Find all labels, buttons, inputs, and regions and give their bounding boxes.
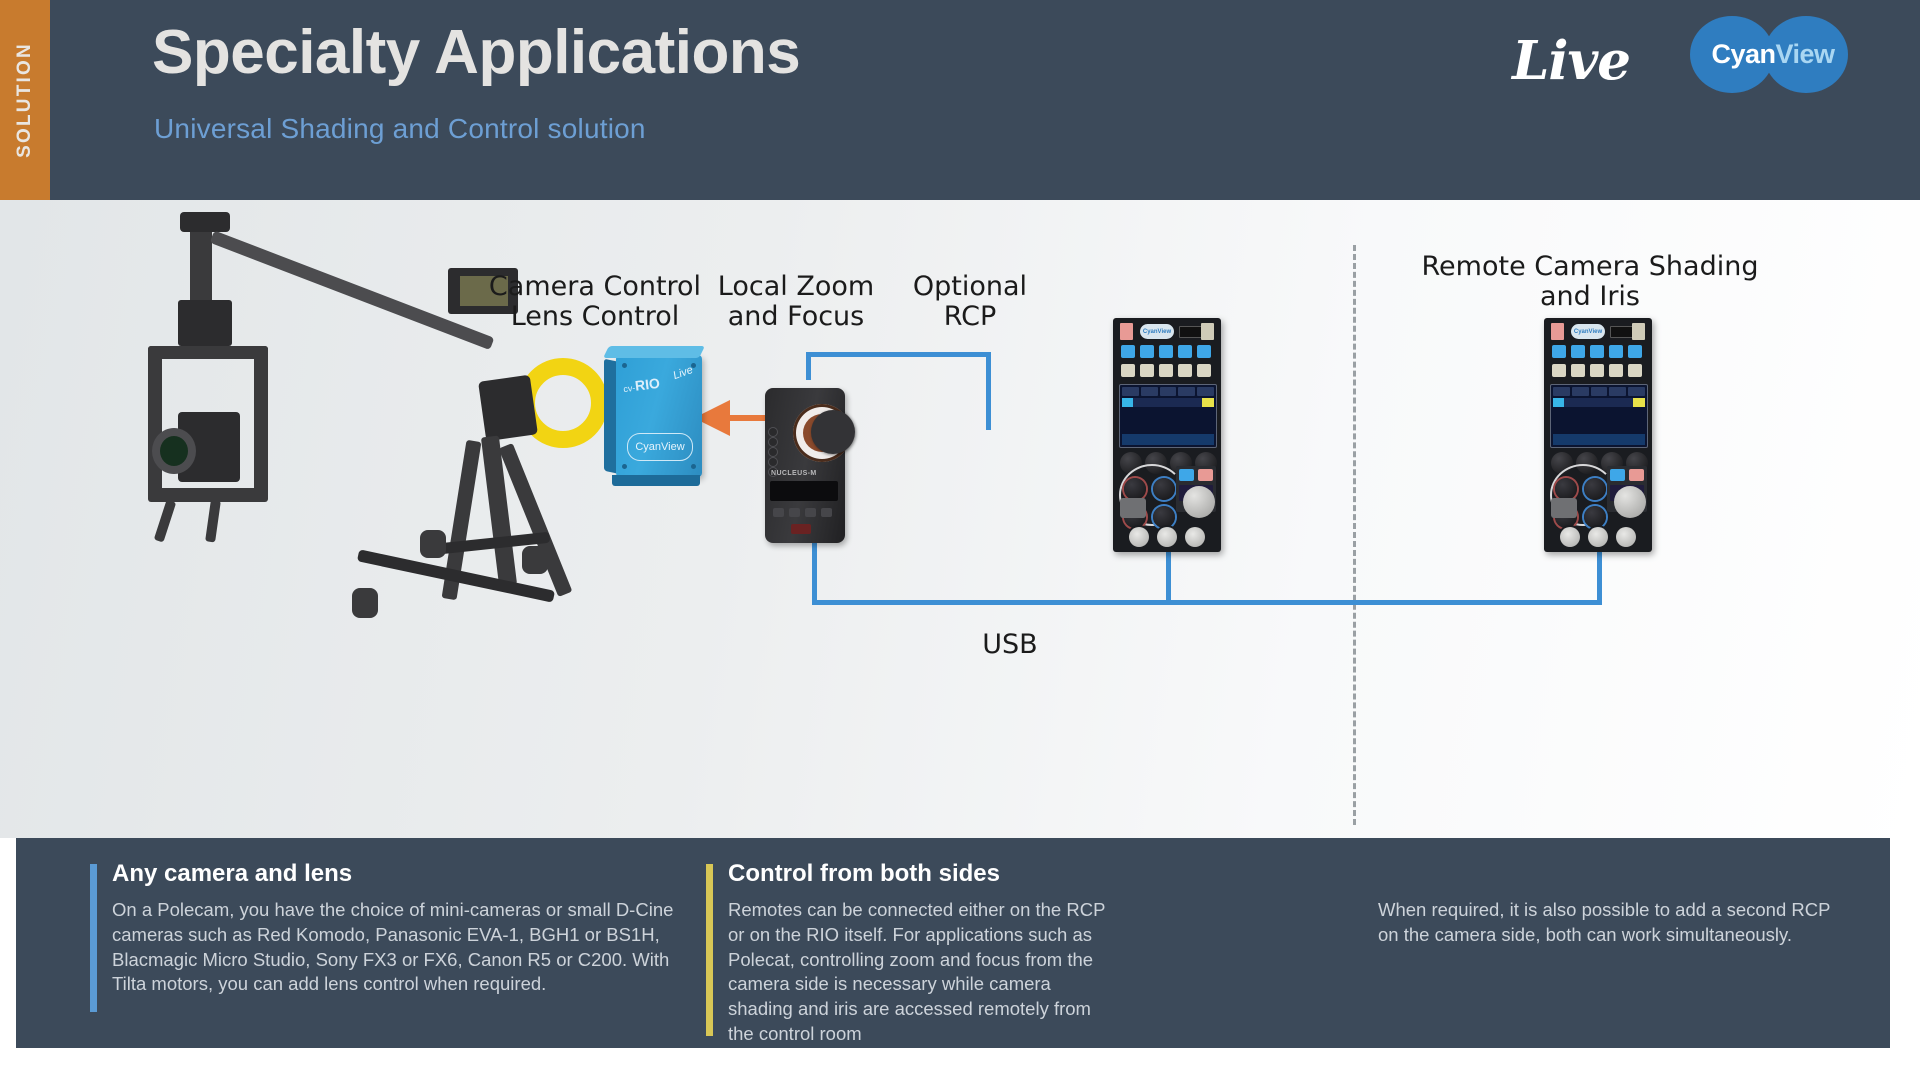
dolly-wheel-3	[420, 530, 446, 558]
nucleus-button-3[interactable]	[805, 508, 816, 517]
logo-text: CyanView	[1668, 16, 1878, 93]
nucleus-button-1[interactable]	[773, 508, 784, 517]
rcp-local-beige-3[interactable]	[1159, 364, 1173, 377]
rcp-remote-blue-3[interactable]	[1590, 345, 1604, 358]
rcp-remote-brand: CyanView	[1571, 324, 1605, 339]
rcp-local-beige-2[interactable]	[1140, 364, 1154, 377]
rcp-remote-pink-key[interactable]	[1551, 323, 1564, 340]
page-header: SOLUTION Specialty Applications Universa…	[0, 0, 1920, 200]
rcp-remote-gray-button[interactable]	[1551, 498, 1577, 518]
rio-screw-bl	[622, 464, 627, 469]
rcp-local-iris-wheel[interactable]	[1183, 486, 1215, 518]
rod-right	[205, 500, 221, 543]
site-divider	[1353, 245, 1356, 825]
nucleus-display	[770, 481, 838, 501]
solution-tab-label: SOLUTION	[14, 42, 36, 158]
rcp-local-gear-3[interactable]	[1185, 527, 1205, 547]
rcp-remote-blue-2[interactable]	[1571, 345, 1585, 358]
polecam-badge	[178, 300, 232, 346]
footer-body-2: Remotes can be connected either on the R…	[728, 898, 1106, 1047]
link-remote-rcp-drop	[1597, 552, 1602, 605]
jib-head	[180, 212, 230, 232]
label-remote-shading: Remote Camera Shading and Iris	[1420, 252, 1760, 312]
rcp-local-gray-button[interactable]	[1120, 498, 1146, 518]
rcp-remote-beige-5[interactable]	[1628, 364, 1642, 377]
rcp-remote-beige-2[interactable]	[1571, 364, 1585, 377]
rio-side-panel	[604, 359, 616, 474]
rod-left	[154, 499, 176, 542]
page-subtitle: Universal Shading and Control solution	[154, 113, 646, 145]
rio-model-label: cv-RIO	[622, 375, 661, 395]
rio-variant-label: Live	[672, 364, 695, 382]
pan-head	[478, 375, 538, 442]
rcp-local-beige-5[interactable]	[1197, 364, 1211, 377]
rcp-local-pink-key[interactable]	[1120, 323, 1133, 340]
footer-heading-1: Any camera and lens	[112, 860, 690, 888]
rcp-remote-mini-blue[interactable]	[1610, 469, 1625, 481]
link-usb-down-right	[986, 352, 991, 430]
footer-accent-bar-2	[706, 864, 713, 1036]
rcp-local-ring-blue-1[interactable]	[1153, 478, 1175, 500]
rcp-remote-beige-1[interactable]	[1552, 364, 1566, 377]
rcp-local-blue-3[interactable]	[1159, 345, 1173, 358]
rio-model-name: RIO	[634, 375, 661, 394]
rcp-local-brand: CyanView	[1140, 324, 1174, 339]
rio-screw-br	[691, 464, 696, 469]
link-usb-down-left	[806, 352, 811, 380]
cage-top	[148, 346, 268, 359]
rcp-remote-beige-key[interactable]	[1632, 323, 1645, 340]
rio-top-panel	[603, 346, 705, 358]
diagram-stage: Camera Control Lens Control Local Zoom a…	[0, 200, 1920, 838]
device-nucleus-m[interactable]: NUCLEUS-M	[765, 388, 845, 543]
rcp-remote-screen-footer	[1553, 434, 1645, 445]
nucleus-knob-cap[interactable]	[811, 410, 855, 454]
device-rcp-remote[interactable]: CyanView	[1544, 318, 1652, 552]
rcp-remote-beige-3[interactable]	[1590, 364, 1604, 377]
rcp-remote-gear-2[interactable]	[1588, 527, 1608, 547]
rcp-local-beige-1[interactable]	[1121, 364, 1135, 377]
lens-glass	[160, 436, 188, 466]
nucleus-button-4[interactable]	[821, 508, 832, 517]
rcp-local-screen-footer	[1122, 434, 1214, 445]
rcp-remote-ring-blue-2[interactable]	[1584, 506, 1606, 528]
rio-screw-tl	[622, 363, 627, 368]
rcp-remote-ring-blue-1[interactable]	[1584, 478, 1606, 500]
rcp-remote-blue-1[interactable]	[1552, 345, 1566, 358]
rcp-local-display-strip	[1179, 326, 1203, 338]
nucleus-button-2[interactable]	[789, 508, 800, 517]
device-rcp-local[interactable]: CyanView	[1113, 318, 1221, 552]
label-remote-shading-line1: Remote Camera Shading	[1420, 252, 1760, 282]
logo-text-cyan: Cyan	[1711, 39, 1775, 70]
device-cv-rio[interactable]: cv-RIO Live CyanView	[616, 355, 702, 477]
rcp-remote-gear-3[interactable]	[1616, 527, 1636, 547]
rcp-remote-blue-5[interactable]	[1628, 345, 1642, 358]
logo-text-view: View	[1775, 39, 1834, 70]
rcp-local-screen-chip	[1122, 398, 1133, 407]
rcp-remote-beige-4[interactable]	[1609, 364, 1623, 377]
solution-tab: SOLUTION	[0, 0, 50, 200]
rcp-local-blue-4[interactable]	[1178, 345, 1192, 358]
rcp-remote-top-row: CyanView	[1550, 323, 1646, 341]
label-optional-rcp: Optional RCP	[870, 272, 1070, 332]
rcp-local-beige-4[interactable]	[1178, 364, 1192, 377]
footer-body-3: When required, it is also possible to ad…	[1378, 898, 1838, 948]
footer-accent-bar-1	[90, 864, 97, 1012]
footer-heading-2: Control from both sides	[728, 860, 1106, 888]
rcp-remote-screen[interactable]	[1550, 384, 1648, 448]
dolly-wheel-1	[352, 588, 378, 618]
rcp-remote-mini-pink[interactable]	[1629, 469, 1644, 481]
nucleus-side-buttons[interactable]	[769, 428, 778, 476]
cyanview-logo: CyanView	[1668, 16, 1878, 93]
link-lan-bus	[812, 600, 1602, 605]
rcp-local-blue-5[interactable]	[1197, 345, 1211, 358]
rcp-remote-screen-row	[1553, 398, 1645, 407]
label-optional-rcp-line2: RCP	[870, 302, 1070, 332]
rcp-remote-screen-warn	[1633, 398, 1645, 407]
rcp-remote-ring-red-1[interactable]	[1555, 478, 1577, 500]
rcp-local-mini-pink[interactable]	[1198, 469, 1213, 481]
nucleus-model-label: NUCLEUS-M	[771, 470, 817, 477]
link-local-rcp-drop	[1166, 552, 1171, 605]
live-wordmark: Live	[1512, 30, 1630, 92]
label-usb: USB	[975, 630, 1045, 660]
rcp-local-screen[interactable]	[1119, 384, 1217, 448]
rcp-local-gear-2[interactable]	[1157, 527, 1177, 547]
footer-body-1: On a Polecam, you have the choice of min…	[112, 898, 690, 997]
rcp-local-blue-1[interactable]	[1121, 345, 1135, 358]
footer-column-3: When required, it is also possible to ad…	[1378, 898, 1838, 948]
page-title: Specialty Applications	[152, 22, 800, 84]
footer-panel: Any camera and lens On a Polecam, you ha…	[16, 838, 1890, 1048]
rcp-local-blue-2[interactable]	[1140, 345, 1154, 358]
rcp-remote-iris-wheel[interactable]	[1614, 486, 1646, 518]
rcp-remote-screen-chip	[1553, 398, 1564, 407]
cage-right	[254, 346, 268, 496]
rcp-remote-display-strip	[1610, 326, 1634, 338]
rcp-local-screen-warn	[1202, 398, 1214, 407]
rio-bottom-connectors	[612, 475, 700, 486]
rcp-local-ring-blue-2[interactable]	[1153, 506, 1175, 528]
dolly-wheel-2	[522, 546, 548, 574]
rcp-local-screen-row	[1122, 398, 1214, 407]
rio-brand-logo: CyanView	[627, 433, 693, 461]
rcp-remote-gear-1[interactable]	[1560, 527, 1580, 547]
rcp-local-top-row: CyanView	[1119, 323, 1215, 341]
jib-post	[190, 220, 212, 310]
footer-column-1: Any camera and lens On a Polecam, you ha…	[90, 860, 690, 997]
footer-column-2: Control from both sides Remotes can be c…	[706, 860, 1106, 1047]
label-remote-shading-line2: and Iris	[1420, 282, 1760, 312]
rcp-remote-screen-tabs[interactable]	[1553, 387, 1645, 396]
rcp-local-screen-tabs[interactable]	[1122, 387, 1214, 396]
nucleus-record-button[interactable]	[791, 524, 811, 534]
rcp-remote-blue-4[interactable]	[1609, 345, 1623, 358]
rcp-local-ring-red-1[interactable]	[1124, 478, 1146, 500]
rcp-local-gear-1[interactable]	[1129, 527, 1149, 547]
cage-left	[148, 346, 162, 496]
rcp-local-beige-key[interactable]	[1201, 323, 1214, 340]
label-optional-rcp-line1: Optional	[870, 272, 1070, 302]
link-usb-horizontal	[806, 352, 991, 357]
rcp-local-mini-blue[interactable]	[1179, 469, 1194, 481]
